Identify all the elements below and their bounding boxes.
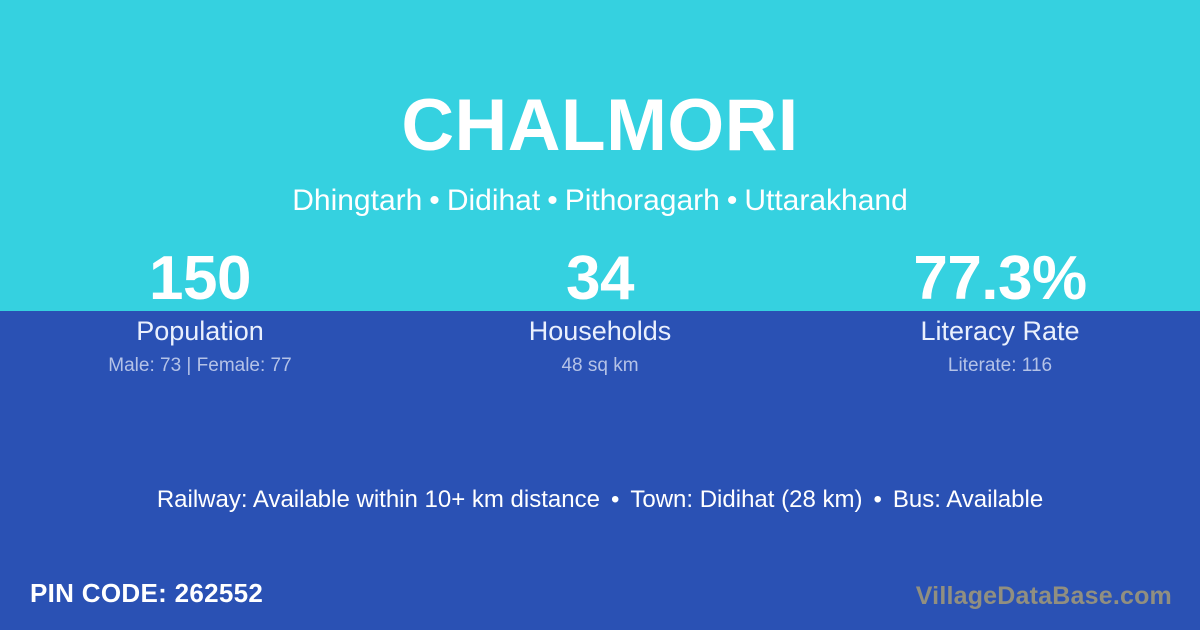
stat-label: Population — [0, 315, 400, 348]
stats-row: 150 Population Male: 73 | Female: 77 34 … — [0, 246, 1200, 378]
stat-literacy-rate: 77.3% Literacy Rate Literate: 116 — [800, 246, 1200, 378]
breadcrumb-separator: • — [422, 184, 447, 217]
page-title: CHALMORI — [0, 81, 1200, 171]
stat-label: Literacy Rate — [800, 315, 1200, 348]
transport-railway: Railway: Available within 10+ km distanc… — [157, 486, 600, 513]
stat-value: 34 — [400, 246, 800, 312]
stat-value: 150 — [0, 246, 400, 312]
stat-label: Households — [400, 315, 800, 348]
transport-town: Town: Didihat (28 km) — [630, 486, 862, 513]
stat-households: 34 Households 48 sq km — [400, 246, 800, 378]
village-info-card: CHALMORI Dhingtarh•Didihat•Pithoragarh•U… — [0, 0, 1200, 630]
breadcrumb-item-district[interactable]: Pithoragarh — [565, 184, 720, 217]
breadcrumb-item-block[interactable]: Dhingtarh — [292, 184, 422, 217]
site-watermark: VillageDataBase.com — [916, 580, 1172, 612]
breadcrumb: Dhingtarh•Didihat•Pithoragarh•Uttarakhan… — [0, 182, 1200, 220]
transport-separator: • — [862, 486, 892, 513]
stat-sublabel: Male: 73 | Female: 77 — [0, 354, 400, 378]
stat-population: 150 Population Male: 73 | Female: 77 — [0, 246, 400, 378]
breadcrumb-separator: • — [720, 184, 745, 217]
stat-value: 77.3% — [800, 246, 1200, 312]
stat-sublabel: Literate: 116 — [800, 354, 1200, 378]
transport-separator: • — [600, 486, 630, 513]
breadcrumb-item-subdistrict[interactable]: Didihat — [447, 184, 540, 217]
transport-bus: Bus: Available — [893, 486, 1043, 513]
breadcrumb-separator: • — [540, 184, 565, 217]
stat-sublabel: 48 sq km — [400, 354, 800, 378]
pin-code: PIN CODE: 262552 — [30, 577, 263, 609]
transport-info: Railway: Available within 10+ km distanc… — [0, 484, 1200, 516]
breadcrumb-item-state[interactable]: Uttarakhand — [744, 184, 907, 217]
